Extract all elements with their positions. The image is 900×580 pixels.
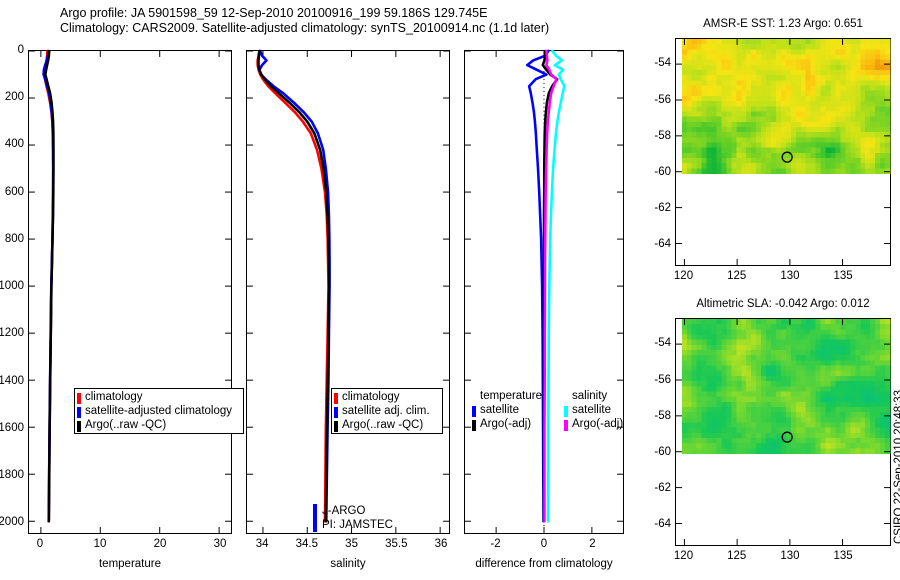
temperature-profile-plot	[29, 51, 231, 533]
legend-entry: satellite-adjusted climatology	[77, 405, 240, 419]
legend-label: Argo(..raw -QC)	[85, 420, 166, 432]
salinity-axis-label: salinity	[330, 558, 365, 570]
difference-profile-plot	[465, 51, 623, 533]
tick-marks	[247, 51, 449, 533]
y-tick-label: -64	[633, 238, 671, 250]
legend-color-swatch	[472, 420, 476, 431]
sla-heatmap-cells	[682, 319, 891, 454]
legend-label: satellite-adjusted climatology	[85, 406, 232, 418]
legend-color-swatch	[77, 393, 81, 404]
legend-label: satellite	[572, 405, 611, 417]
legend-entry: temperature	[472, 390, 542, 404]
legend-label: satellite adj. clim.	[342, 406, 430, 418]
y-tick-label: -62	[633, 202, 671, 214]
x-tick-label: 125	[727, 550, 746, 562]
legend-entry: climatology	[77, 391, 240, 405]
x-tick-label: 135	[834, 270, 853, 282]
y-tick-label: 1000	[0, 280, 24, 292]
profile-lines	[44, 51, 54, 521]
x-tick-label: 20	[154, 538, 167, 550]
y-tick-label: -54	[633, 57, 671, 69]
legend-entry: salinity	[564, 390, 623, 404]
y-tick-label: 200	[0, 91, 24, 103]
x-tick-label: 120	[674, 550, 693, 562]
x-tick-label: 125	[727, 270, 746, 282]
x-tick-label: 130	[780, 550, 799, 562]
legend-label: salinity	[572, 391, 607, 403]
salinity-profile-plot	[247, 51, 449, 533]
legend-color-swatch	[77, 421, 81, 432]
y-tick-label: 400	[0, 138, 24, 150]
x-tick-label: 2	[589, 538, 595, 550]
legend-label: climatology	[85, 392, 143, 404]
legend-entry: Argo(-adj)	[472, 418, 542, 432]
temperature-legend: climatologysatellite-adjusted climatolog…	[74, 388, 244, 434]
jargo-line-2: PI: JAMSTEC	[322, 518, 393, 532]
legend-color-swatch	[77, 407, 81, 418]
legend-label: Argo(-adj)	[572, 419, 623, 431]
x-tick-label: 10	[94, 538, 107, 550]
difference-profile-panel[interactable]	[464, 50, 624, 534]
y-tick-label: -60	[633, 446, 671, 458]
x-tick-label: -2	[490, 538, 500, 550]
temperature-profile-panel[interactable]	[28, 50, 232, 534]
legend-entry: satellite	[472, 404, 542, 418]
figure-title: Argo profile: JA 5901598_59 12-Sep-2010 …	[60, 6, 640, 36]
difference-legend-salinity-column: salinitysatelliteArgo(-adj)	[564, 390, 623, 432]
difference-legend-temperature-column: temperaturesatelliteArgo(-adj)	[472, 390, 542, 432]
legend-color-swatch	[334, 393, 338, 404]
sla-map-plot	[676, 319, 890, 545]
y-tick-label: -58	[633, 410, 671, 422]
sst-map-title: AMSR-E SST: 1.23 Argo: 0.651	[703, 18, 863, 30]
title-line-1: Argo profile: JA 5901598_59 12-Sep-2010 …	[60, 6, 640, 21]
y-tick-label: -58	[633, 130, 671, 142]
y-tick-label: 600	[0, 186, 24, 198]
sst-heatmap-cells	[682, 39, 891, 174]
x-tick-label: 34.5	[296, 538, 318, 550]
altimetric-sla-map[interactable]	[675, 318, 891, 546]
x-tick-label: 35	[345, 538, 358, 550]
legend-entry: climatology	[334, 391, 439, 405]
x-tick-label: 0	[541, 538, 547, 550]
y-tick-label: -62	[633, 482, 671, 494]
legend-label: Argo(..raw -QC)	[342, 420, 423, 432]
y-tick-label: 1400	[0, 375, 24, 387]
legend-label: satellite	[480, 405, 519, 417]
legend-label: temperature	[480, 391, 542, 403]
title-line-2: Climatology: CARS2009. Satellite-adjuste…	[60, 21, 640, 36]
csiro-timestamp: CSIRO 22-Sep-2010 20:48:33	[893, 390, 900, 544]
legend-label: climatology	[342, 392, 400, 404]
x-tick-label: 36	[435, 538, 448, 550]
legend-entry: Argo(-adj)	[564, 418, 623, 432]
amsre-sst-map[interactable]	[675, 38, 891, 266]
x-tick-label: 34	[256, 538, 269, 550]
legend-entry: Argo(..raw -QC)	[77, 419, 240, 433]
legend-color-swatch	[472, 406, 476, 417]
difference-legend: temperaturesatelliteArgo(-adj)salinitysa…	[470, 388, 626, 434]
legend-entry: satellite	[564, 404, 623, 418]
legend-color-swatch	[564, 406, 568, 417]
difference-axis-label: difference from climatology	[475, 558, 612, 570]
y-tick-label: 0	[0, 44, 24, 56]
tick-marks	[29, 51, 231, 533]
y-tick-label: -56	[633, 374, 671, 386]
legend-color-swatch	[564, 420, 568, 431]
legend-entry: satellite adj. clim.	[334, 405, 439, 419]
legend-color-swatch	[472, 392, 476, 403]
temperature-axis-label: temperature	[99, 558, 161, 570]
y-tick-label: 2000	[0, 516, 24, 528]
y-tick-label: -64	[633, 518, 671, 530]
jargo-colorbar	[313, 504, 317, 532]
y-tick-label: -54	[633, 337, 671, 349]
salinity-profile-panel[interactable]	[246, 50, 450, 534]
x-tick-label: 135	[834, 550, 853, 562]
jargo-annotation: J-ARGO PI: JAMSTEC	[313, 504, 393, 532]
y-tick-label: 800	[0, 233, 24, 245]
profile-lines	[258, 51, 330, 521]
y-tick-label: -56	[633, 94, 671, 106]
sla-map-title: Altimetric SLA: -0.042 Argo: 0.012	[696, 298, 869, 310]
figure-canvas: Argo profile: JA 5901598_59 12-Sep-2010 …	[0, 0, 900, 580]
legend-label: Argo(-adj)	[480, 419, 531, 431]
y-tick-label: -60	[633, 166, 671, 178]
legend-color-swatch	[564, 392, 568, 403]
jargo-line-1: J-ARGO	[322, 504, 393, 518]
x-tick-label: 35.5	[385, 538, 407, 550]
x-tick-label: 30	[214, 538, 227, 550]
legend-color-swatch	[334, 421, 338, 432]
x-tick-label: 0	[37, 538, 43, 550]
legend-entry: Argo(..raw -QC)	[334, 419, 439, 433]
difference-lines	[527, 51, 564, 521]
x-tick-label: 120	[674, 270, 693, 282]
legend-color-swatch	[334, 407, 338, 418]
y-tick-label: 1800	[0, 469, 24, 481]
salinity-legend: climatologysatellite adj. clim.Argo(..ra…	[331, 388, 443, 434]
difference-legend-columns: temperaturesatelliteArgo(-adj)salinitysa…	[472, 390, 623, 432]
y-tick-label: 1200	[0, 327, 24, 339]
sst-map-plot	[676, 39, 890, 265]
x-tick-label: 130	[780, 270, 799, 282]
y-tick-label: 1600	[0, 422, 24, 434]
